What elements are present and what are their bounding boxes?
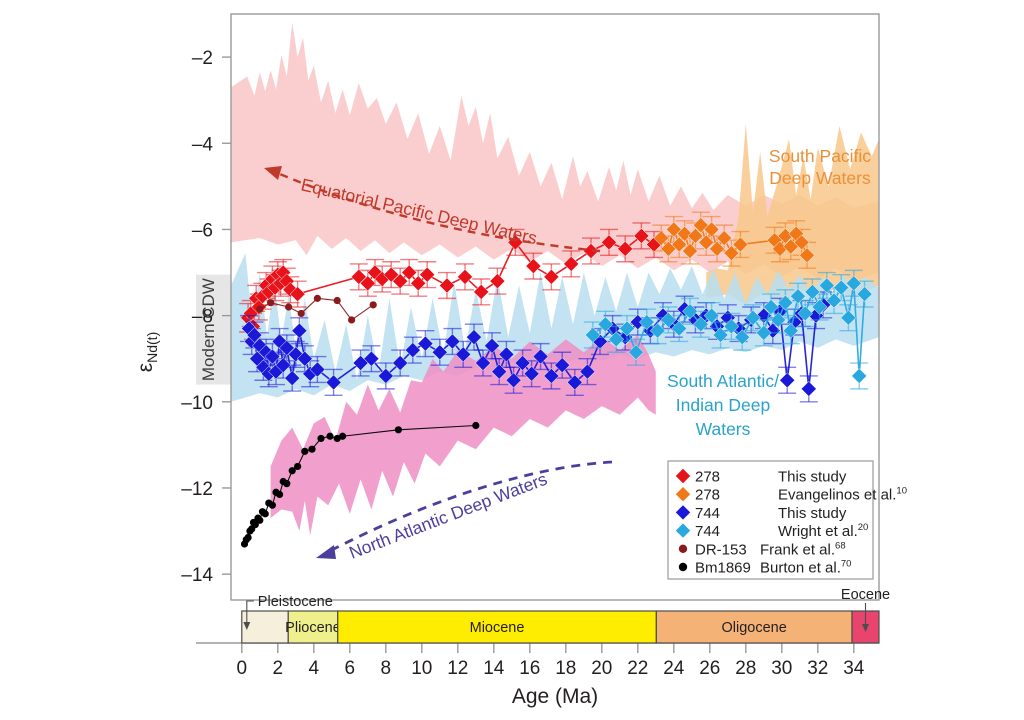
legend-site-label: 278	[695, 469, 720, 486]
data-point-circle	[245, 534, 252, 541]
x-axis-title: Age (Ma)	[512, 685, 598, 708]
x-tick-label: 10	[411, 658, 432, 679]
x-tick-label: 26	[699, 658, 720, 679]
legend-source-text: This study	[778, 469, 847, 486]
legend-source-label: Frank et al.68	[760, 540, 846, 558]
x-tick-label: 34	[843, 658, 865, 679]
legend-site-label: DR-153	[695, 541, 747, 558]
legend-site-label: 744	[695, 505, 720, 522]
data-point-circle	[256, 517, 263, 524]
x-tick-label: 6	[345, 658, 356, 679]
legend-site-label: 744	[695, 523, 720, 540]
data-point-circle	[370, 301, 377, 308]
y-tick-label: –4	[192, 134, 214, 155]
legend-source-text: Frank et al.	[760, 541, 835, 558]
data-point-circle	[285, 303, 292, 310]
legend-marker-circle	[679, 545, 687, 553]
x-tick-label: 16	[519, 658, 540, 679]
south-atlantic-indian-label-line: Waters	[696, 419, 751, 439]
data-point-circle	[276, 491, 283, 498]
epoch-label-miocene: Miocene	[470, 620, 525, 636]
epoch-block-pleistocene[interactable]	[242, 611, 288, 643]
legend-source-text: Evangelinos et al.	[778, 487, 896, 504]
legend-site-label: 278	[695, 487, 720, 504]
south-atlantic-indian-label-line: Indian Deep	[676, 395, 770, 415]
legend-site-label: Bm1869	[695, 560, 751, 577]
x-tick-label: 20	[591, 658, 612, 679]
data-point-circle	[326, 433, 333, 440]
data-point-circle	[256, 306, 263, 313]
legend-row[interactable]: Bm1869Burton et al.70	[679, 559, 852, 577]
legend-source-label: Evangelinos et al.10	[778, 486, 907, 504]
y-tick-label: –10	[181, 393, 213, 414]
legend-source-superscript: 20	[858, 522, 869, 533]
data-point-circle	[301, 448, 308, 455]
y-axis-title-subscript: Nd(t)	[144, 332, 160, 363]
y-tick-label: –2	[192, 48, 213, 69]
x-tick-label: 4	[309, 658, 320, 679]
modern-cdw-label: Modern CDW	[199, 278, 218, 381]
x-tick-label: 32	[807, 658, 828, 679]
x-tick-label: 2	[273, 658, 284, 679]
data-point-circle	[314, 295, 321, 302]
south-pacific-label-line: South Pacific	[769, 146, 871, 166]
data-point-circle	[317, 435, 324, 442]
legend-source-label: This study	[778, 469, 847, 486]
legend-source-superscript: 70	[841, 559, 852, 570]
legend-source-superscript: 68	[835, 540, 846, 551]
x-tick-label: 12	[447, 658, 468, 679]
data-point-circle	[395, 426, 402, 433]
legend-marker-circle	[679, 563, 687, 571]
data-point-circle	[262, 510, 269, 517]
legend-source-label: Wright et al.20	[778, 522, 868, 540]
data-point-circle	[339, 433, 346, 440]
x-tick-label: 8	[381, 658, 392, 679]
y-tick-label: –8	[192, 307, 213, 328]
data-point-circle	[267, 299, 274, 306]
legend-row[interactable]: 278Evangelinos et al.10	[676, 486, 907, 504]
x-tick-label: 14	[483, 658, 505, 679]
x-tick-label: 18	[555, 658, 576, 679]
south-pacific-label-line: Deep Waters	[769, 168, 871, 188]
y-axis-title-epsilon: ε	[134, 363, 157, 372]
south-atlantic-indian-label-line: South Atlantic/	[667, 371, 779, 391]
data-point-circle	[269, 502, 276, 509]
data-point-circle	[348, 316, 355, 323]
data-point-circle	[334, 297, 341, 304]
data-point-circle	[472, 422, 479, 429]
y-tick-label: –6	[192, 220, 213, 241]
data-point-circle	[308, 446, 315, 453]
x-tick-label: 24	[663, 658, 685, 679]
legend-source-text: Burton et al.	[760, 560, 841, 577]
epoch-label-pliocene: Pliocene	[285, 620, 341, 636]
figure-root: Modern CDWEquatorial Pacific Deep Waters…	[0, 0, 1024, 720]
modern-cdw-band: Modern CDW	[196, 275, 231, 385]
data-point-circle	[294, 463, 301, 470]
y-tick-label: –12	[181, 479, 213, 500]
legend-source-label: Burton et al.70	[760, 559, 851, 577]
legend-source-superscript: 10	[896, 486, 907, 497]
x-tick-label: 30	[771, 658, 792, 679]
epsilon-nd-vs-age-chart: Modern CDWEquatorial Pacific Deep Waters…	[0, 0, 1024, 720]
legend-source-text: This study	[778, 505, 847, 522]
data-point-circle	[298, 310, 305, 317]
legend-source-text: Wright et al.	[778, 523, 858, 540]
epoch-label-oligocene: Oligocene	[722, 620, 787, 636]
x-tick-label: 28	[735, 658, 756, 679]
epoch-label-pleistocene: Pleistocene	[258, 594, 333, 610]
x-tick-label: 22	[627, 658, 648, 679]
data-point-circle	[283, 480, 290, 487]
y-tick-label: –14	[181, 565, 213, 586]
legend: 278This study278Evangelinos et al.10744T…	[668, 461, 907, 579]
legend-source-label: This study	[778, 505, 847, 522]
epoch-label-eocene: Eocene	[841, 587, 890, 603]
x-tick-label: 0	[237, 658, 248, 679]
legend-row[interactable]: DR-153Frank et al.68	[679, 540, 846, 558]
